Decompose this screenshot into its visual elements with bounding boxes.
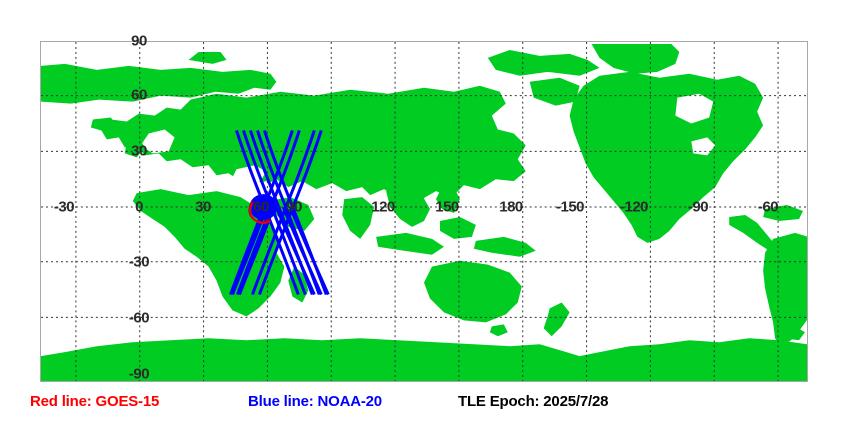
land-greenland [592,44,680,74]
land-tasmania [490,324,508,336]
land-india [342,197,374,239]
legend-red-line-goes15: Red line: GOES-15 [30,393,159,410]
land-indonesia-2 [440,217,476,239]
land-new-guinea [474,237,536,257]
land-alaska-west [530,78,580,106]
noaa20-convergence-blob [249,194,277,220]
legend-row: Red line: GOES-15 Blue line: NOAA-20 TLE… [0,393,850,419]
land-svalbard [189,52,227,64]
land-layer [41,44,807,381]
land-arctic-islands [488,50,600,76]
legend-tle-epoch: TLE Epoch: 2025/7/28 [458,393,608,410]
land-new-zealand [544,302,570,336]
legend-blue-line-noaa20: Blue line: NOAA-20 [248,393,382,410]
land-indonesia-1 [376,233,444,255]
world-map-svg [41,42,807,381]
land-australia [424,261,522,323]
land-central-america [729,215,775,251]
land-antarctica [41,338,807,381]
satellite-ground-track-map: -30 0 30 60 90 120 150 180 -150 -120 -90… [0,0,850,425]
map-plot-area [40,41,808,382]
